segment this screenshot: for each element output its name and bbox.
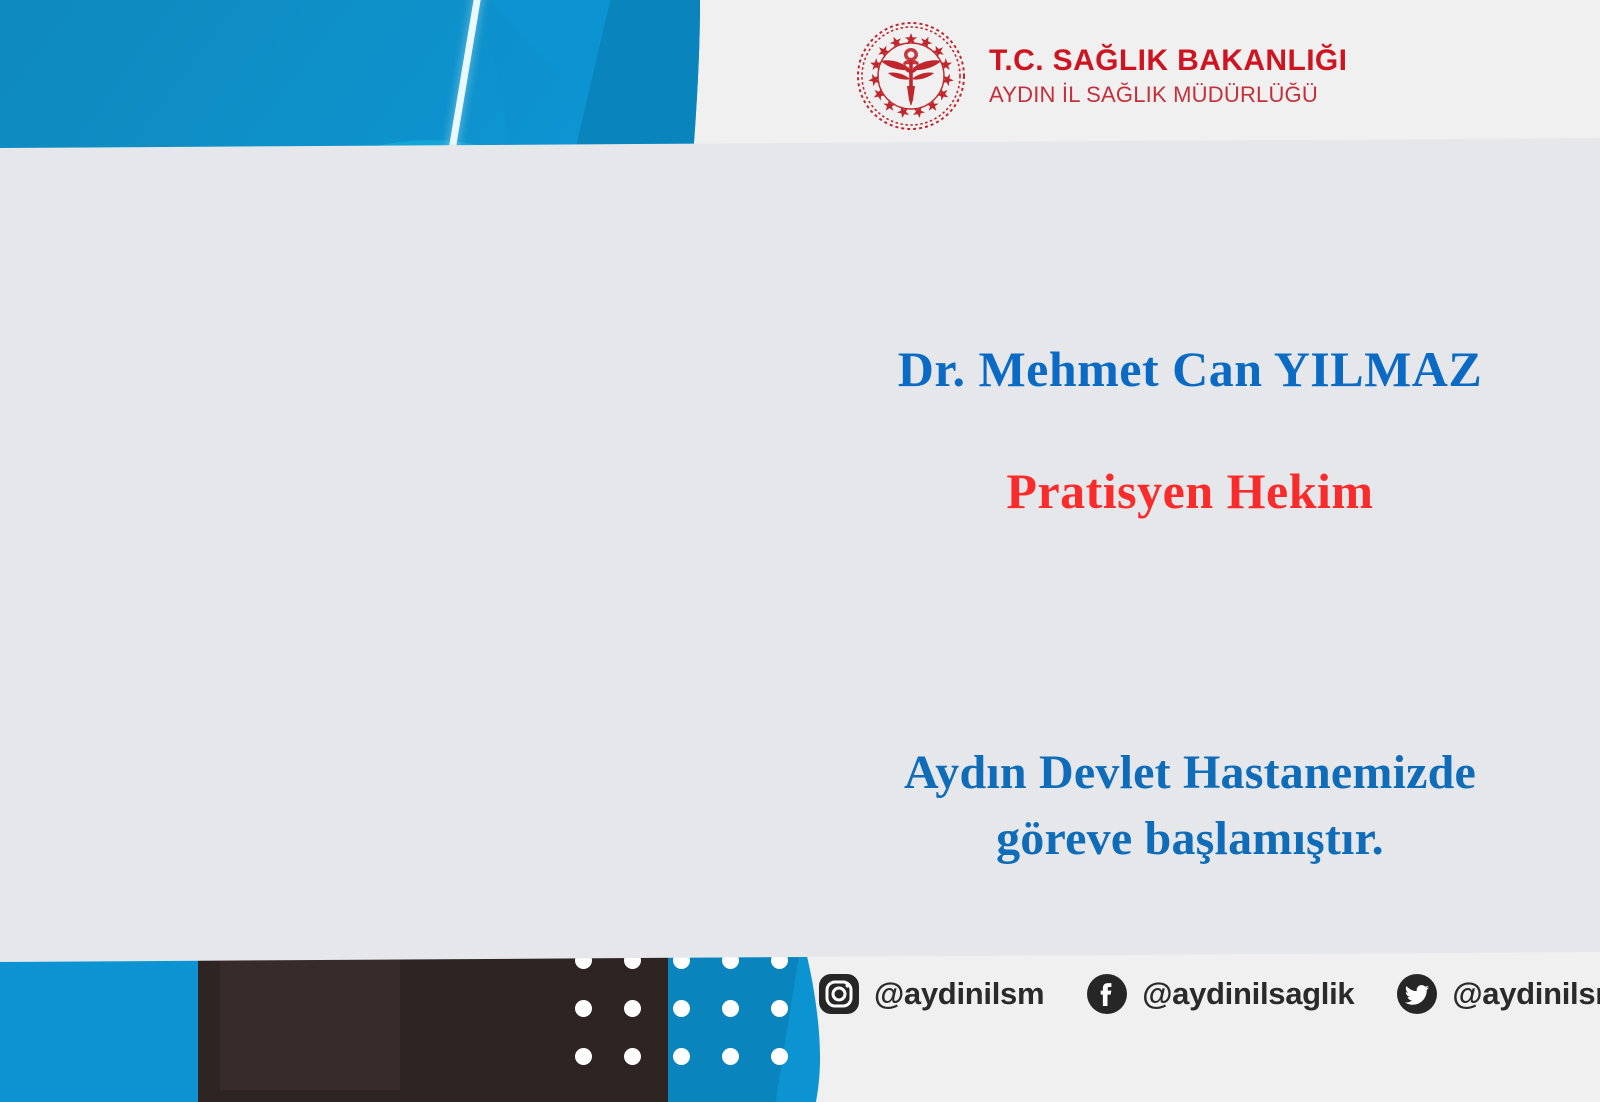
eyeglasses-icon <box>328 262 410 324</box>
facebook-handle: @aydinilsaglik <box>1142 976 1354 1012</box>
instagram-handle: @aydinilsm <box>874 976 1044 1012</box>
social-item-facebook[interactable]: @aydinilsaglik <box>1086 973 1354 1015</box>
doctor-name: Dr. Mehmet Can YILMAZ <box>790 340 1590 398</box>
dot-grid-lower <box>575 856 820 1096</box>
announcement-line-2: göreve başlamıştır. <box>790 806 1590 872</box>
announcement-message: Aydın Devlet Hastanemizde göreve başlamı… <box>790 740 1590 872</box>
social-item-twitter[interactable]: @aydinilsm <box>1396 973 1600 1015</box>
announcement-line-1: Aydın Devlet Hastanemizde <box>790 740 1590 806</box>
social-links: @aydinilsm @aydinilsaglik @aydinilsm <box>818 963 1578 1025</box>
social-item-instagram[interactable]: @aydinilsm <box>818 973 1044 1015</box>
announcement-text-column: Dr. Mehmet Can YILMAZ Pratisyen Hekim Ay… <box>790 0 1590 1102</box>
twitter-handle: @aydinilsm <box>1452 976 1600 1012</box>
blue-base-shape <box>0 0 830 1102</box>
announcement-poster: T.C. SAĞLIK BAKANLIĞI AYDIN İL SAĞLIK MÜ… <box>0 0 1600 1102</box>
facebook-icon[interactable] <box>1086 973 1128 1015</box>
twitter-icon[interactable] <box>1396 973 1438 1015</box>
instagram-icon[interactable] <box>818 973 860 1015</box>
doctor-title: Pratisyen Hekim <box>790 462 1590 520</box>
left-blue-artwork <box>0 0 830 1102</box>
